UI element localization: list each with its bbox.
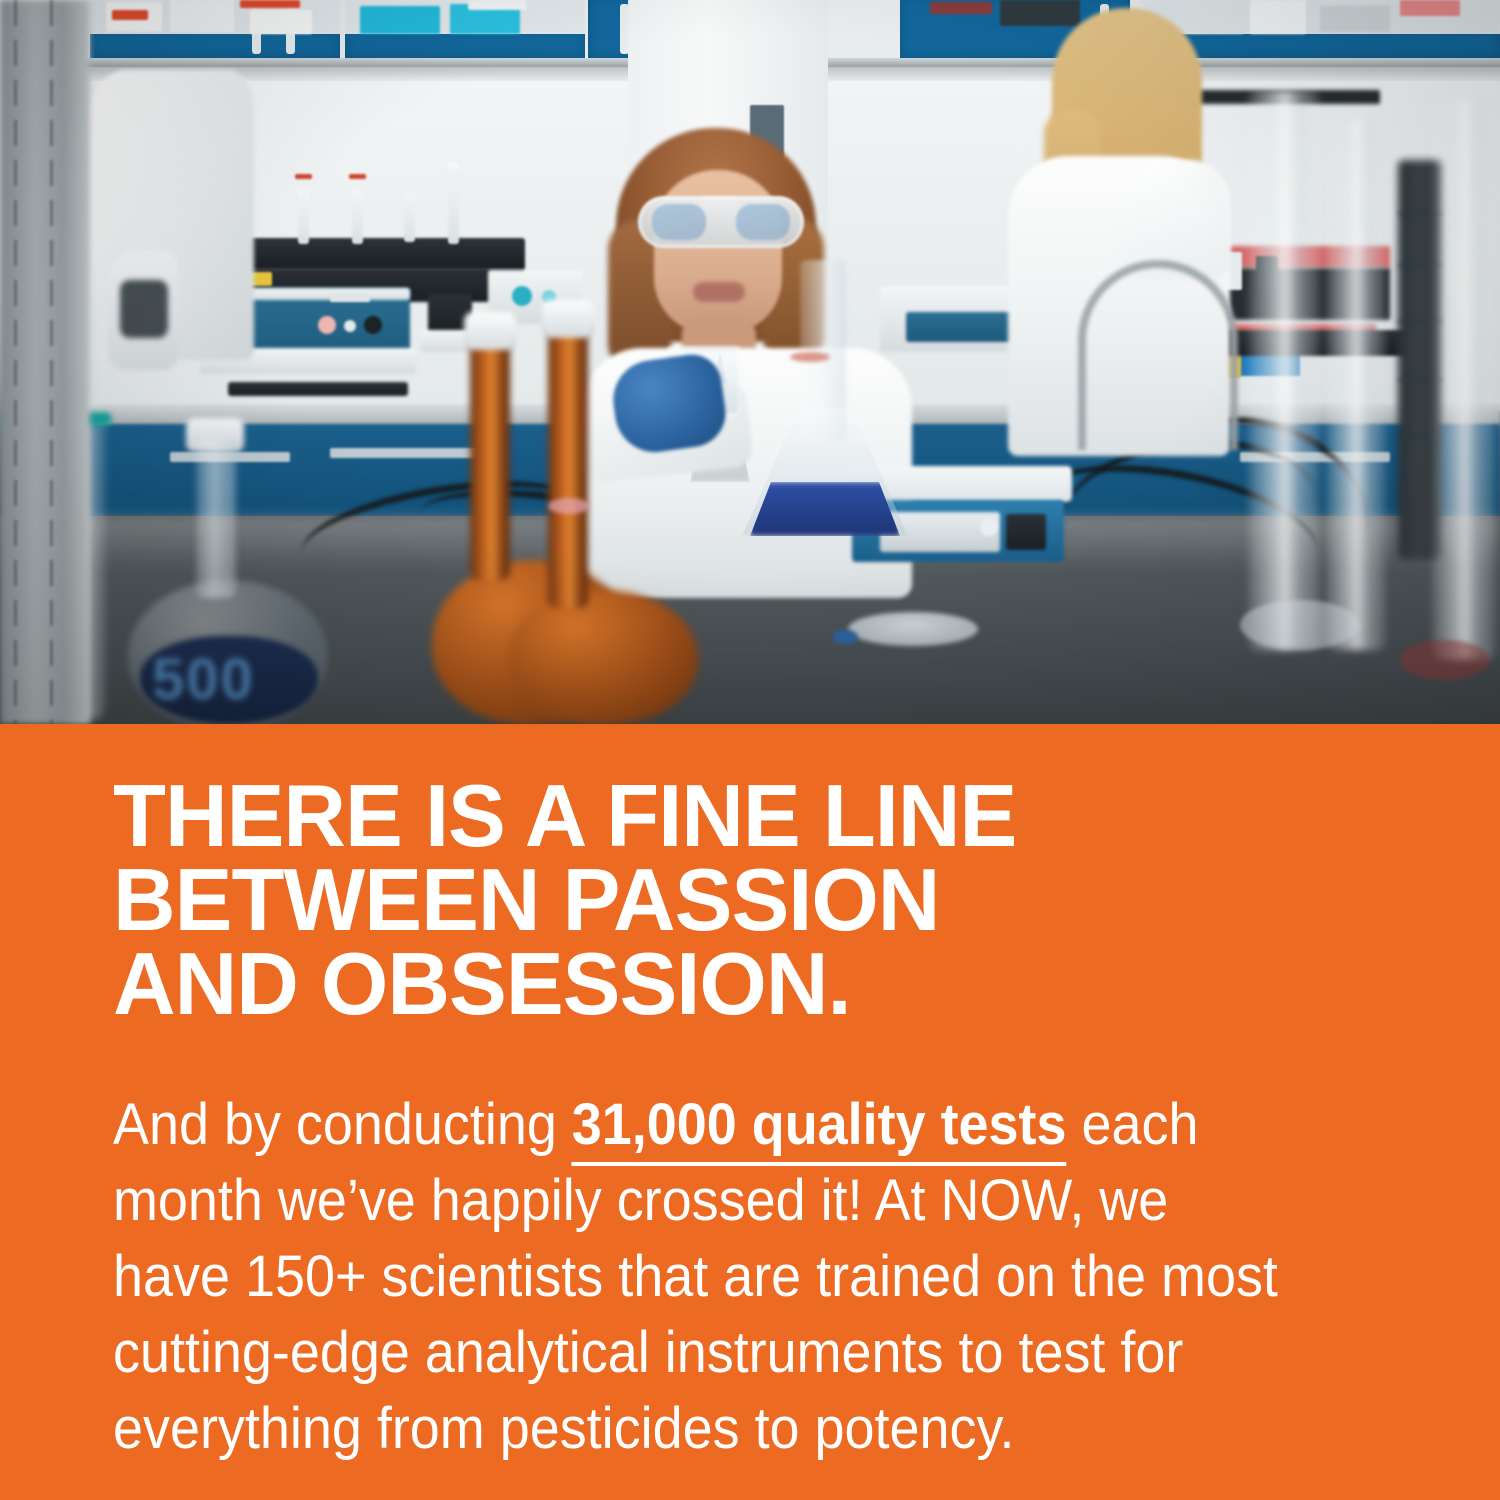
photo-vignette — [0, 0, 1500, 724]
body-lead: And by conducting — [113, 1092, 572, 1157]
laboratory-photo: 500 — [0, 0, 1500, 724]
marketing-poster: 500 THERE IS A FINE LINE BETWEEN PASSION… — [0, 0, 1500, 1500]
stat-highlight: 31,000 quality tests — [572, 1092, 1067, 1166]
body-paragraph: And by conducting 31,000 quality tests e… — [113, 1087, 1294, 1467]
page-title: THERE IS A FINE LINE BETWEEN PASSION AND… — [113, 774, 1374, 1026]
orange-message-panel: THERE IS A FINE LINE BETWEEN PASSION AND… — [0, 724, 1500, 1500]
